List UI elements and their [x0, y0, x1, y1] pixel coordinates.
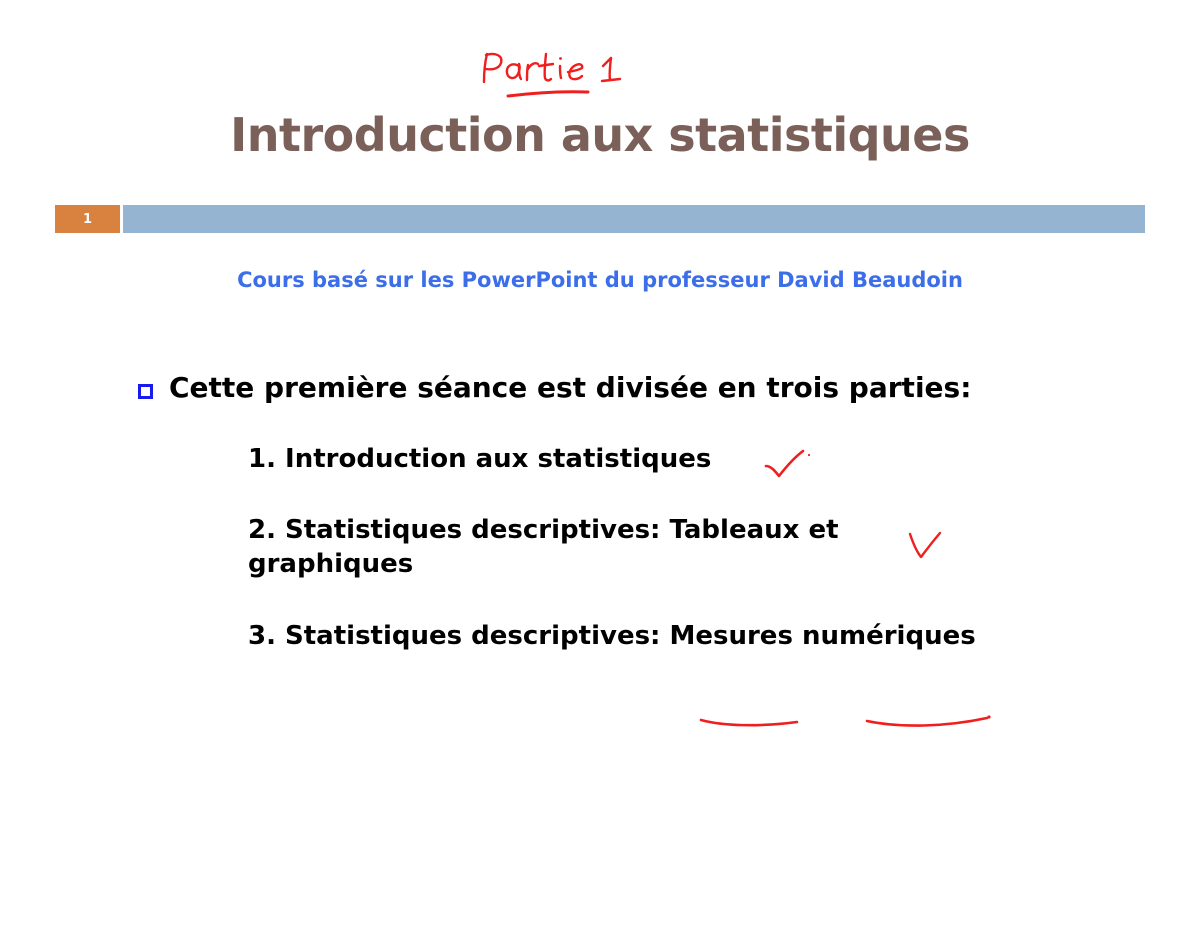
list-item-number: 1.	[248, 444, 276, 474]
bullet-item: Cette première séance est divisée en tro…	[138, 372, 1140, 404]
handwritten-partie-annotation	[470, 44, 640, 106]
square-bullet-icon	[138, 384, 153, 399]
band-bar	[123, 205, 1145, 233]
bullet-item-label: Cette première séance est divisée en tro…	[169, 372, 971, 404]
list-item-number: 2.	[248, 515, 276, 545]
list-item-label: Statistiques descriptives: Tableaux et g…	[248, 515, 839, 579]
page-number-badge: 1	[55, 205, 120, 233]
parts-list: 1. Introduction aux statistiques 2. Stat…	[138, 442, 1140, 653]
list-item-label: Introduction aux statistiques	[285, 444, 711, 474]
list-item-number: 3.	[248, 621, 276, 651]
slide-canvas: Introduction aux statistiques 1 Cours ba…	[0, 0, 1200, 927]
list-item-label: Statistiques descriptives: Mesures numér…	[285, 621, 976, 651]
list-item: 1. Introduction aux statistiques	[248, 442, 1140, 476]
slide-body: Cette première séance est divisée en tro…	[138, 372, 1140, 653]
list-item: 3. Statistiques descriptives: Mesures nu…	[248, 619, 1140, 653]
list-item: 2. Statistiques descriptives: Tableaux e…	[248, 513, 908, 582]
ink-underline-item-3-icon	[695, 706, 1015, 746]
slide-subtitle: Cours basé sur les PowerPoint du profess…	[0, 268, 1200, 292]
title-divider-band: 1	[55, 205, 1145, 233]
page-title: Introduction aux statistiques	[0, 112, 1200, 158]
